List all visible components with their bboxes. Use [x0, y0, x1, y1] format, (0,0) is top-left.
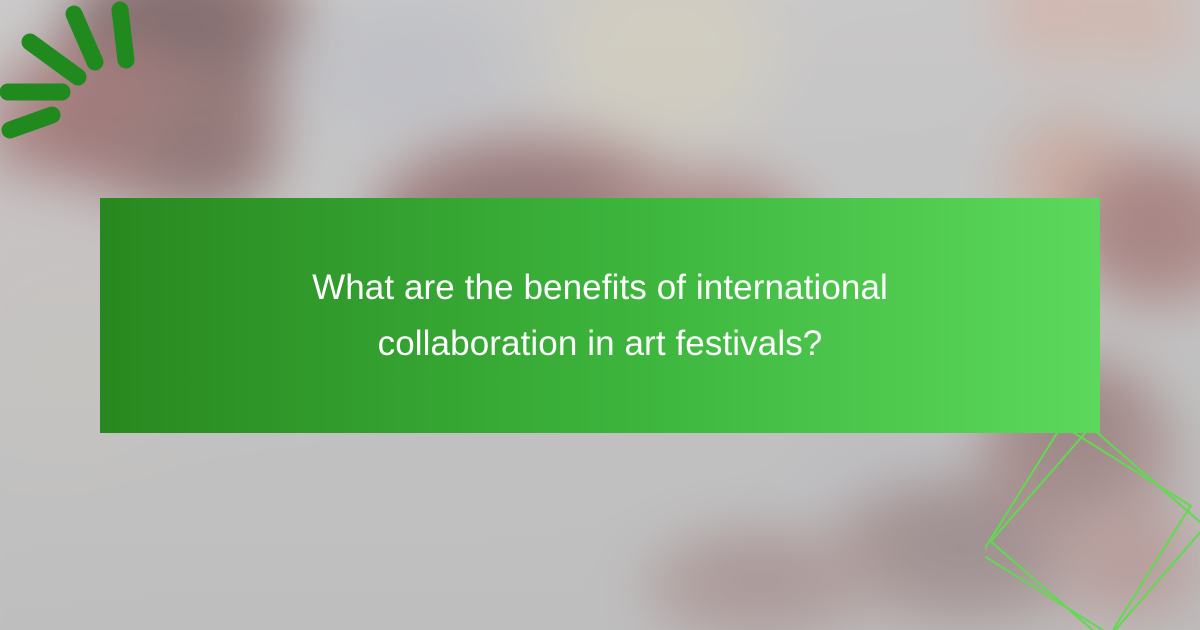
burst-sparkle-icon	[0, 0, 180, 170]
rotated-squares-icon	[985, 420, 1200, 630]
headline-banner: What are the benefits of international c…	[100, 198, 1100, 433]
page-title: What are the benefits of international c…	[220, 260, 980, 372]
poster-canvas: What are the benefits of international c…	[0, 0, 1200, 630]
